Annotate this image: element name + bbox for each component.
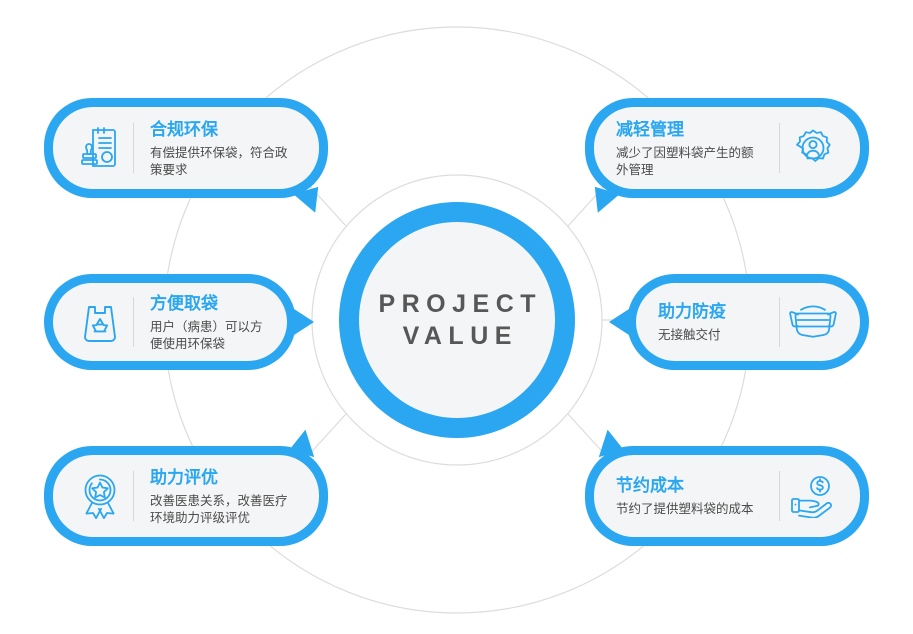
card-bag-title: 方便取袋 bbox=[150, 292, 265, 316]
center-title-line2: VALUE bbox=[396, 320, 518, 352]
card-compliance-desc: 有偿提供环保袋，符合政策要求 bbox=[150, 145, 297, 179]
card-cost-title: 节约成本 bbox=[616, 474, 763, 498]
card-compliance-body: 合规环保 有偿提供环保袋，符合政策要求 bbox=[53, 107, 319, 189]
diagram-canvas: PROJECT VALUE 合规环保 bbox=[0, 0, 913, 634]
card-divider bbox=[133, 123, 134, 173]
medal-ribbon-icon bbox=[69, 473, 131, 519]
card-management[interactable]: 减轻管理 减少了因塑料袋产生的额外管理 bbox=[585, 98, 869, 198]
card-award-desc: 改善医患关系，改善医疗环境助力评级评优 bbox=[150, 493, 297, 527]
center-title-line1: PROJECT bbox=[372, 288, 542, 320]
card-epidemic-pointer bbox=[609, 309, 629, 335]
face-mask-icon bbox=[782, 304, 844, 340]
card-management-desc: 减少了因塑料袋产生的额外管理 bbox=[616, 145, 763, 179]
card-divider bbox=[133, 471, 134, 521]
document-stamp-icon bbox=[69, 126, 131, 170]
card-bag-pointer bbox=[294, 309, 314, 335]
card-bag[interactable]: 方便取袋 用户（病患）可以方便使用环保袋 bbox=[44, 274, 296, 370]
card-management-title: 减轻管理 bbox=[616, 118, 763, 142]
card-compliance-text: 合规环保 有偿提供环保袋，符合政策要求 bbox=[136, 118, 303, 179]
card-divider bbox=[133, 297, 134, 347]
card-award-title: 助力评优 bbox=[150, 466, 297, 490]
card-epidemic-title: 助力防疫 bbox=[658, 300, 763, 324]
card-epidemic-body: 助力防疫 无接触交付 bbox=[636, 283, 860, 361]
gear-person-icon bbox=[782, 126, 844, 170]
card-epidemic-text: 助力防疫 无接触交付 bbox=[652, 300, 777, 344]
card-divider bbox=[779, 297, 780, 347]
card-award-body: 助力评优 改善医患关系，改善医疗环境助力评级评优 bbox=[53, 455, 319, 537]
card-bag-text: 方便取袋 用户（病患）可以方便使用环保袋 bbox=[136, 292, 271, 353]
card-award-text: 助力评优 改善医患关系，改善医疗环境助力评级评优 bbox=[136, 466, 303, 527]
card-cost-body: 节约成本 节约了提供塑料袋的成本 bbox=[594, 455, 860, 537]
card-award[interactable]: 助力评优 改善医患关系，改善医疗环境助力评级评优 bbox=[44, 446, 328, 546]
card-divider bbox=[779, 471, 780, 521]
card-cost-desc: 节约了提供塑料袋的成本 bbox=[616, 501, 763, 518]
card-compliance-title: 合规环保 bbox=[150, 118, 297, 142]
card-divider bbox=[779, 123, 780, 173]
card-cost[interactable]: 节约成本 节约了提供塑料袋的成本 bbox=[585, 446, 869, 546]
card-bag-body: 方便取袋 用户（病患）可以方便使用环保袋 bbox=[53, 283, 287, 361]
card-epidemic-desc: 无接触交付 bbox=[658, 327, 763, 344]
center-hub: PROJECT VALUE bbox=[339, 202, 575, 438]
card-management-body: 减轻管理 减少了因塑料袋产生的额外管理 bbox=[594, 107, 860, 189]
recycle-bag-icon bbox=[69, 300, 131, 344]
card-compliance[interactable]: 合规环保 有偿提供环保袋，符合政策要求 bbox=[44, 98, 328, 198]
card-cost-text: 节约成本 节约了提供塑料袋的成本 bbox=[610, 474, 777, 518]
hand-money-icon bbox=[782, 474, 844, 518]
card-epidemic[interactable]: 助力防疫 无接触交付 bbox=[627, 274, 869, 370]
card-management-text: 减轻管理 减少了因塑料袋产生的额外管理 bbox=[610, 118, 777, 179]
card-bag-desc: 用户（病患）可以方便使用环保袋 bbox=[150, 319, 265, 353]
center-hub-inner: PROJECT VALUE bbox=[359, 222, 555, 418]
